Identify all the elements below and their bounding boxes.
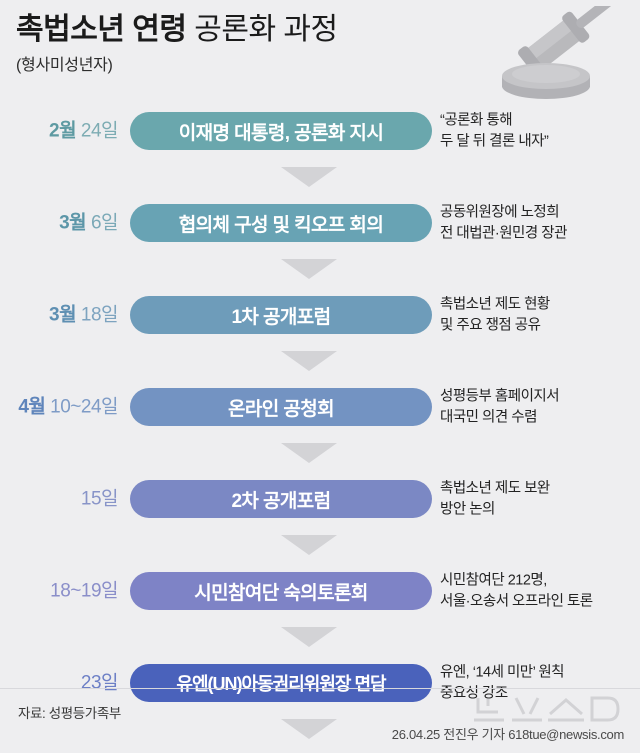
timeline-note-line2: 및 주요 쟁점 공유	[440, 315, 636, 336]
arrow-down-icon	[281, 167, 337, 187]
timeline-bar[interactable]: 1차 공개포럼	[130, 296, 432, 334]
arrow-down-icon	[281, 627, 337, 647]
header: 촉법소년 연령 공론화 과정 (형사미성년자)	[16, 12, 486, 75]
timeline-note: “공론화 통해 두 달 뒤 결론 내자”	[440, 110, 636, 151]
timeline-date-month: 4월	[18, 397, 45, 418]
timeline-connector	[0, 350, 640, 372]
timeline-date-day: 15일	[81, 489, 118, 510]
timeline-note-line1: 시민참여단 212명,	[440, 570, 636, 591]
timeline-note: 촉법소년 제도 보완 방안 논의	[440, 478, 636, 519]
timeline-date: 3월 18일	[0, 306, 118, 325]
timeline-note: 성평등부 홈페이지서 대국민 의견 수렴	[440, 386, 636, 427]
timeline-row: 3월 6일 협의체 구성 및 킥오프 회의 공동위원장에 노정희 전 대법관·원…	[0, 188, 640, 258]
timeline-date-month: 2월	[49, 121, 76, 142]
gavel-icon	[482, 6, 634, 102]
timeline-date-month: 3월	[59, 213, 86, 234]
timeline: 2월 24일 이재명 대통령, 공론화 지시 “공론화 통해 두 달 뒤 결론 …	[0, 96, 640, 753]
timeline-date-day: 10~24일	[50, 397, 118, 418]
timeline-note-line2: 대국민 의견 수렴	[440, 407, 636, 428]
timeline-connector	[0, 166, 640, 188]
timeline-connector	[0, 534, 640, 556]
timeline-bar[interactable]: 유엔(UN)아동권리위원장 면담	[130, 664, 432, 702]
timeline-row: 18~19일 시민참여단 숙의토론회 시민참여단 212명, 서울·오송서 오프…	[0, 556, 640, 626]
page-subtitle: (형사미성년자)	[16, 51, 486, 75]
timeline-note: 촉법소년 제도 현황 및 주요 쟁점 공유	[440, 294, 636, 335]
timeline-note: 시민참여단 212명, 서울·오송서 오프라인 토론	[440, 570, 636, 611]
arrow-down-icon	[281, 719, 337, 739]
timeline-bar[interactable]: 협의체 구성 및 킥오프 회의	[130, 204, 432, 242]
timeline-note-line1: 촉법소년 제도 현황	[440, 294, 636, 315]
timeline-date-day: 24일	[81, 121, 118, 142]
page-title: 촉법소년 연령 공론화 과정	[16, 12, 486, 47]
timeline-note: 공동위원장에 노정희 전 대법관·원민경 장관	[440, 202, 636, 243]
timeline-date: 23일	[0, 674, 118, 693]
timeline-date: 4월 10~24일	[0, 398, 118, 417]
newsis-logo	[472, 690, 622, 728]
timeline-note-line1: 공동위원장에 노정희	[440, 202, 636, 223]
infographic-root: 촉법소년 연령 공론화 과정 (형사미성년자) 2월	[0, 0, 640, 753]
timeline-note-line2: 방안 논의	[440, 499, 636, 520]
timeline-bar[interactable]: 시민참여단 숙의토론회	[130, 572, 432, 610]
source-label: 자료: 성평등가족부	[18, 702, 121, 722]
arrow-down-icon	[281, 535, 337, 555]
timeline-date-day: 23일	[81, 673, 118, 694]
page-title-strong: 촉법소년 연령	[16, 13, 186, 46]
timeline-date-month: 3월	[49, 305, 76, 326]
timeline-date: 15일	[0, 490, 118, 509]
timeline-connector	[0, 626, 640, 648]
timeline-row: 4월 10~24일 온라인 공청회 성평등부 홈페이지서 대국민 의견 수렴	[0, 372, 640, 442]
timeline-date: 3월 6일	[0, 214, 118, 233]
arrow-down-icon	[281, 443, 337, 463]
timeline-date-day: 18~19일	[50, 581, 118, 602]
timeline-note-line1: 유엔, ‘14세 미만’ 원칙	[440, 662, 636, 683]
byline: 26.04.25 전진우 기자 618tue@newsis.com	[392, 724, 624, 743]
timeline-row: 2월 24일 이재명 대통령, 공론화 지시 “공론화 통해 두 달 뒤 결론 …	[0, 96, 640, 166]
timeline-note-line2: 전 대법관·원민경 장관	[440, 223, 636, 244]
timeline-bar[interactable]: 2차 공개포럼	[130, 480, 432, 518]
timeline-date: 2월 24일	[0, 122, 118, 141]
timeline-note-line2: 두 달 뒤 결론 내자”	[440, 131, 636, 152]
timeline-bar[interactable]: 이재명 대통령, 공론화 지시	[130, 112, 432, 150]
timeline-note-line1: “공론화 통해	[440, 110, 636, 131]
timeline-note-line1: 성평등부 홈페이지서	[440, 386, 636, 407]
timeline-row: 15일 2차 공개포럼 촉법소년 제도 보완 방안 논의	[0, 464, 640, 534]
timeline-connector	[0, 442, 640, 464]
timeline-date-day: 6일	[91, 213, 118, 234]
arrow-down-icon	[281, 259, 337, 279]
arrow-down-icon	[281, 351, 337, 371]
footer-divider	[0, 688, 640, 689]
page-title-light: 공론화 과정	[194, 13, 337, 46]
timeline-date: 18~19일	[0, 582, 118, 601]
timeline-connector	[0, 258, 640, 280]
timeline-bar[interactable]: 온라인 공청회	[130, 388, 432, 426]
timeline-row: 3월 18일 1차 공개포럼 촉법소년 제도 현황 및 주요 쟁점 공유	[0, 280, 640, 350]
timeline-date-day: 18일	[81, 305, 118, 326]
timeline-note-line2: 서울·오송서 오프라인 토론	[440, 591, 636, 612]
timeline-note-line1: 촉법소년 제도 보완	[440, 478, 636, 499]
